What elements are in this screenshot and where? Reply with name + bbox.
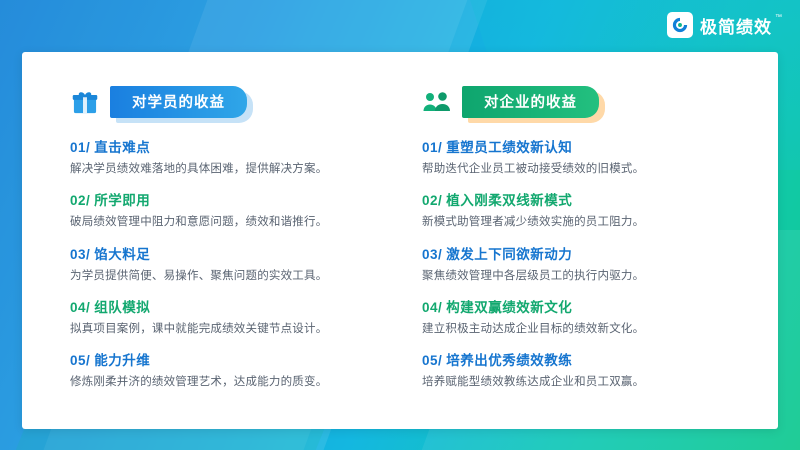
column-students: 对学员的收益 01/直击难点 解决学员绩效难落地的具体困难，提供解决方案。 02…	[48, 86, 400, 419]
item-title: 01/重塑员工绩效新认知	[422, 136, 730, 156]
item-description: 帮助迭代企业员工被动接受绩效的旧模式。	[422, 161, 730, 178]
item-label: 植入刚柔双线新模式	[446, 193, 572, 208]
item-number: 04/	[422, 300, 442, 315]
item-label: 重塑员工绩效新认知	[446, 140, 572, 155]
brand-logo: 极简绩效 ™	[667, 12, 782, 38]
item-number: 01/	[422, 140, 442, 155]
item-number: 05/	[422, 353, 442, 368]
item-label: 构建双赢绩效新文化	[446, 300, 572, 315]
item-title: 04/构建双赢绩效新文化	[422, 296, 730, 316]
item-number: 04/	[70, 300, 90, 315]
content-card: 对学员的收益 01/直击难点 解决学员绩效难落地的具体困难，提供解决方案。 02…	[22, 52, 778, 429]
item-description: 新模式助管理者减少绩效实施的员工阻力。	[422, 214, 730, 231]
item-title: 02/植入刚柔双线新模式	[422, 189, 730, 209]
item-description: 聚焦绩效管理中各层级员工的执行内驱力。	[422, 268, 730, 285]
item-title: 05/能力升维	[70, 349, 378, 369]
item-description: 拟真项目案例，课中就能完成绩效关键节点设计。	[70, 321, 378, 338]
heading-text-enterprise: 对企业的收益	[462, 86, 599, 118]
list-item: 02/所学即用 破局绩效管理中阻力和意愿问题，绩效和谐推行。	[70, 189, 378, 231]
item-description: 修炼刚柔并济的绩效管理艺术，达成能力的质变。	[70, 374, 378, 391]
item-title: 05/培养出优秀绩效教练	[422, 349, 730, 369]
gift-icon	[70, 87, 100, 117]
item-title: 04/组队模拟	[70, 296, 378, 316]
list-item: 03/激发上下同欲新动力 聚焦绩效管理中各层级员工的执行内驱力。	[422, 243, 730, 285]
column-heading-students: 对学员的收益	[70, 86, 378, 118]
item-label: 组队模拟	[94, 300, 150, 315]
people-icon	[422, 87, 452, 117]
item-description: 解决学员绩效难落地的具体困难，提供解决方案。	[70, 161, 378, 178]
item-description: 建立积极主动达成企业目标的绩效新文化。	[422, 321, 730, 338]
heading-text-students: 对学员的收益	[110, 86, 247, 118]
item-label: 馅大料足	[94, 247, 150, 262]
item-label: 直击难点	[94, 140, 150, 155]
item-description: 培养赋能型绩效教练达成企业和员工双赢。	[422, 374, 730, 391]
trademark-symbol: ™	[775, 14, 782, 21]
item-number: 02/	[70, 193, 90, 208]
list-item: 05/培养出优秀绩效教练 培养赋能型绩效教练达成企业和员工双赢。	[422, 349, 730, 391]
list-item: 01/重塑员工绩效新认知 帮助迭代企业员工被动接受绩效的旧模式。	[422, 136, 730, 178]
list-item: 03/馅大料足 为学员提供简便、易操作、聚焦问题的实效工具。	[70, 243, 378, 285]
column-heading-enterprise: 对企业的收益	[422, 86, 730, 118]
item-description: 破局绩效管理中阻力和意愿问题，绩效和谐推行。	[70, 214, 378, 231]
list-item: 04/构建双赢绩效新文化 建立积极主动达成企业目标的绩效新文化。	[422, 296, 730, 338]
item-title: 03/馅大料足	[70, 243, 378, 263]
item-number: 02/	[422, 193, 442, 208]
list-item: 02/植入刚柔双线新模式 新模式助管理者减少绩效实施的员工阻力。	[422, 189, 730, 231]
item-label: 培养出优秀绩效教练	[446, 353, 572, 368]
columns-container: 对学员的收益 01/直击难点 解决学员绩效难落地的具体困难，提供解决方案。 02…	[22, 52, 778, 429]
item-label: 所学即用	[94, 193, 150, 208]
list-item: 01/直击难点 解决学员绩效难落地的具体困难，提供解决方案。	[70, 136, 378, 178]
item-description: 为学员提供简便、易操作、聚焦问题的实效工具。	[70, 268, 378, 285]
brand-name: 极简绩效	[700, 13, 772, 38]
spiral-logo-icon	[667, 12, 693, 38]
column-enterprise: 对企业的收益 01/重塑员工绩效新认知 帮助迭代企业员工被动接受绩效的旧模式。 …	[400, 86, 752, 419]
item-number: 01/	[70, 140, 90, 155]
heading-pill-enterprise: 对企业的收益	[462, 86, 599, 118]
item-title: 01/直击难点	[70, 136, 378, 156]
list-item: 05/能力升维 修炼刚柔并济的绩效管理艺术，达成能力的质变。	[70, 349, 378, 391]
item-label: 激发上下同欲新动力	[446, 247, 572, 262]
heading-pill-students: 对学员的收益	[110, 86, 247, 118]
item-title: 02/所学即用	[70, 189, 378, 209]
item-number: 05/	[70, 353, 90, 368]
item-number: 03/	[70, 247, 90, 262]
slide: 极简绩效 ™	[0, 0, 800, 450]
item-label: 能力升维	[94, 353, 150, 368]
item-title: 03/激发上下同欲新动力	[422, 243, 730, 263]
list-item: 04/组队模拟 拟真项目案例，课中就能完成绩效关键节点设计。	[70, 296, 378, 338]
item-number: 03/	[422, 247, 442, 262]
